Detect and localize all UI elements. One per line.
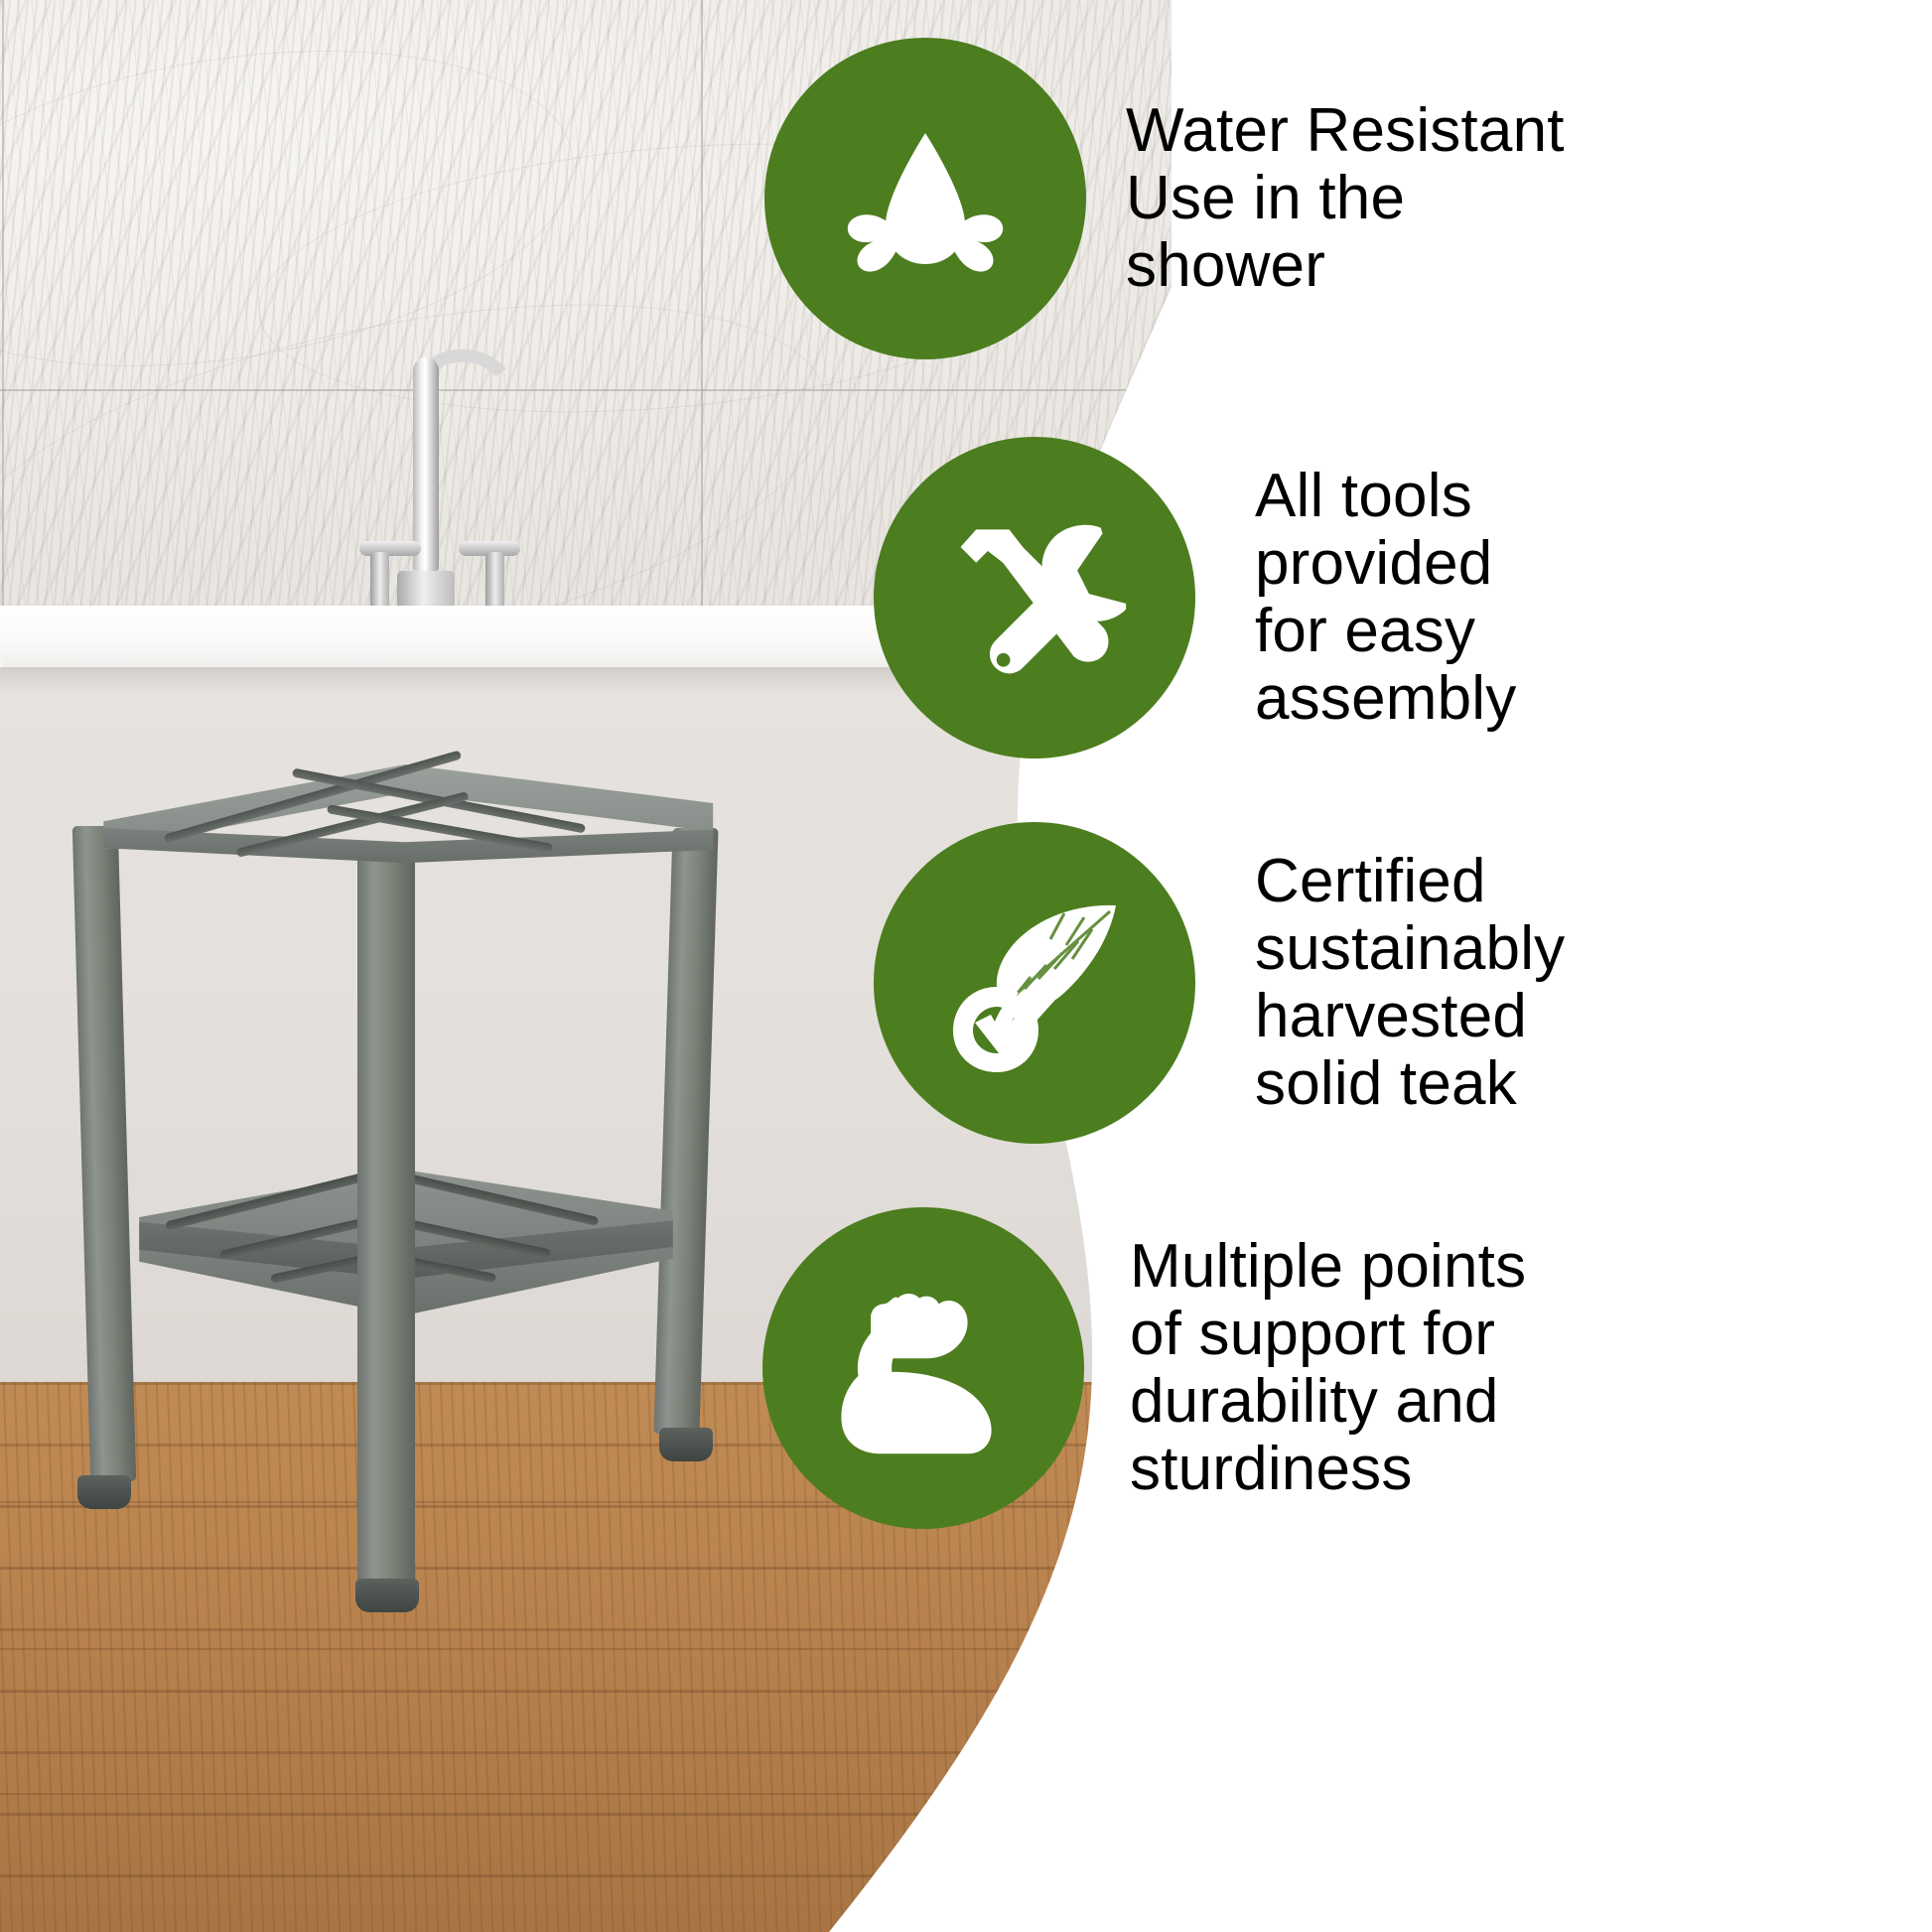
feature-line: All tools xyxy=(1255,463,1516,530)
feature-row-multiple-support: Multiple points of support for durabilit… xyxy=(762,1207,1526,1529)
floor-plank-seam xyxy=(0,1648,1172,1650)
faucet-spout xyxy=(413,357,439,571)
feature-line: for easy xyxy=(1255,598,1516,665)
feature-line: provided xyxy=(1255,530,1516,598)
bench-leg xyxy=(72,826,136,1481)
bench-leg-front xyxy=(357,852,415,1587)
feature-line: sustainably xyxy=(1255,915,1565,983)
hammer-wrench-tools-icon xyxy=(874,437,1195,759)
feature-text-multiple-support: Multiple points of support for durabilit… xyxy=(1130,1233,1526,1504)
faucet-handle-left xyxy=(359,541,421,556)
faucet-handle-post-right xyxy=(485,552,504,610)
feature-line: durability and xyxy=(1130,1368,1526,1436)
feature-line: Water Resistant xyxy=(1126,97,1565,165)
feature-line: shower xyxy=(1126,232,1565,300)
bench-leg xyxy=(653,828,718,1434)
feature-line: sturdiness xyxy=(1130,1436,1526,1503)
flexed-bicep-muscle-icon xyxy=(762,1207,1084,1529)
feature-text-certified-teak: Certified sustainably harvested solid te… xyxy=(1255,848,1565,1119)
feature-text-water-resistant: Water Resistant Use in the shower xyxy=(1126,97,1565,301)
tile-grout-line xyxy=(2,0,4,635)
feature-row-water-resistant: Water Resistant Use in the shower xyxy=(764,38,1565,359)
feature-line: solid teak xyxy=(1255,1050,1565,1118)
feature-line: Use in the xyxy=(1126,165,1565,232)
infographic-canvas: Water Resistant Use in the shower All to… xyxy=(0,0,1932,1932)
feature-row-certified-teak: Certified sustainably harvested solid te… xyxy=(874,822,1565,1144)
bench-foot xyxy=(659,1428,713,1461)
leaf-checkmark-icon xyxy=(874,822,1195,1144)
floor-plank-seam xyxy=(0,1793,1172,1795)
feature-line: Multiple points xyxy=(1130,1233,1526,1301)
bench-foot xyxy=(77,1475,131,1509)
feature-row-all-tools: All tools provided for easy assembly xyxy=(874,437,1516,759)
tile-grout-line xyxy=(0,389,1172,391)
feature-text-all-tools: All tools provided for easy assembly xyxy=(1255,463,1516,734)
feature-line: Certified xyxy=(1255,848,1565,915)
shower-bench-product xyxy=(60,755,755,1559)
faucet-handle-post-left xyxy=(370,552,389,610)
bench-foot xyxy=(355,1579,419,1612)
feature-line: of support for xyxy=(1130,1301,1526,1368)
water-drop-splash-icon xyxy=(764,38,1086,359)
feature-line: harvested xyxy=(1255,983,1565,1050)
feature-line: assembly xyxy=(1255,665,1516,733)
tile-grout-line xyxy=(701,0,703,635)
